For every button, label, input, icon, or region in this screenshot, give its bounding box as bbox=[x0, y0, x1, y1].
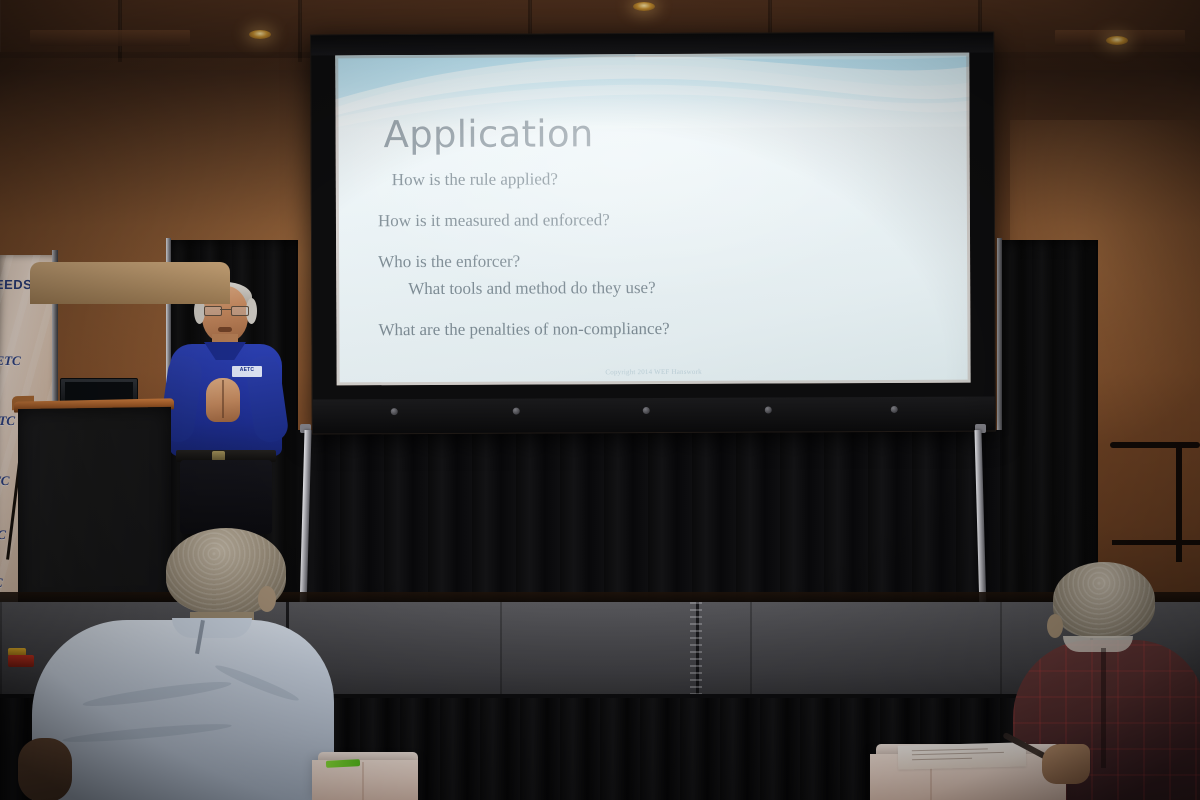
presenter-trousers bbox=[180, 460, 272, 534]
ceiling-vent bbox=[30, 30, 190, 46]
audience-right-ear bbox=[1047, 614, 1063, 638]
handout-paper bbox=[898, 742, 1027, 769]
ceiling-light bbox=[1106, 36, 1128, 45]
slide-sub-bullet: What tools and method do they use? bbox=[408, 278, 938, 297]
banner-logo-aetc: AETC bbox=[0, 473, 10, 489]
screen-rail-stud bbox=[513, 408, 520, 415]
banner-logo-aetc: AETC bbox=[0, 575, 3, 591]
audience-left-collar bbox=[172, 618, 252, 638]
back-chair-rail bbox=[1110, 442, 1200, 448]
presenter-mouth bbox=[218, 327, 232, 332]
tablecloth-fold bbox=[362, 762, 364, 800]
glasses-bridge bbox=[220, 309, 231, 310]
slide-bullet: Who is the enforcer? bbox=[378, 251, 938, 270]
presenter-glasses bbox=[204, 306, 247, 314]
screen-rail-stud bbox=[765, 406, 772, 413]
paper-text-line bbox=[912, 758, 972, 761]
presenter-logo-patch-text: AETC bbox=[233, 367, 261, 373]
audience-right-hand bbox=[1042, 744, 1090, 784]
back-chair-rail-lower bbox=[1112, 540, 1200, 545]
screen-bottom-rail bbox=[313, 397, 995, 434]
audience-right-collar bbox=[1063, 636, 1133, 652]
stage-back-drape bbox=[296, 430, 1002, 605]
laptop-screen bbox=[65, 382, 133, 401]
audience-member-left bbox=[22, 528, 352, 800]
audience-right-shirt-placket bbox=[1101, 648, 1106, 768]
presenter: AETC bbox=[150, 282, 300, 472]
stage-deck-edge-grit bbox=[690, 602, 702, 700]
slide-body: How is the rule applied? How is it measu… bbox=[378, 169, 939, 362]
slide-bullet: How is the rule applied? bbox=[392, 169, 938, 188]
banner-logo-aetc: AETC bbox=[0, 527, 6, 543]
audience-left-shirt bbox=[32, 620, 334, 800]
chair-left bbox=[30, 262, 230, 304]
screen-rail-stud bbox=[891, 406, 898, 413]
screen-surface: Application How is the rule applied? How… bbox=[335, 53, 970, 386]
audience-left-ear bbox=[258, 586, 276, 612]
glasses-lens-right bbox=[231, 306, 249, 316]
slide-title: Application bbox=[383, 112, 593, 156]
ceiling-beam bbox=[298, 0, 302, 62]
paper-text-line bbox=[912, 752, 1004, 755]
banner-logo-aetc: AETC bbox=[0, 353, 21, 369]
paper-text-line bbox=[912, 748, 988, 751]
audience-right-hair-texture bbox=[1053, 562, 1155, 638]
ceiling-light bbox=[633, 2, 655, 11]
slide-bullet: How is it measured and enforced? bbox=[378, 210, 938, 229]
slide-copyright: Copyright 2014 WEF Hanswork bbox=[337, 367, 971, 378]
projection-screen: Application How is the rule applied? How… bbox=[310, 32, 996, 435]
presenter-hand-crease bbox=[222, 380, 224, 418]
banner-logo-aetc: AETC bbox=[0, 413, 15, 429]
ceiling-light bbox=[249, 30, 271, 39]
slide-bullet: What are the penalties of non-compliance… bbox=[378, 319, 938, 338]
audience-left-arm bbox=[18, 738, 72, 800]
glasses-lens-left bbox=[204, 306, 222, 316]
powerpoint-slide: Application How is the rule applied? How… bbox=[335, 53, 970, 386]
screen-rail-stud bbox=[643, 407, 650, 414]
stage-drape-right bbox=[1000, 240, 1098, 612]
screen-rail-stud bbox=[391, 408, 398, 415]
conference-room-photo: EEDS AETC AETC AETC AETC AETC AETC Appli… bbox=[0, 0, 1200, 800]
banner-headline: EEDS bbox=[0, 277, 33, 292]
